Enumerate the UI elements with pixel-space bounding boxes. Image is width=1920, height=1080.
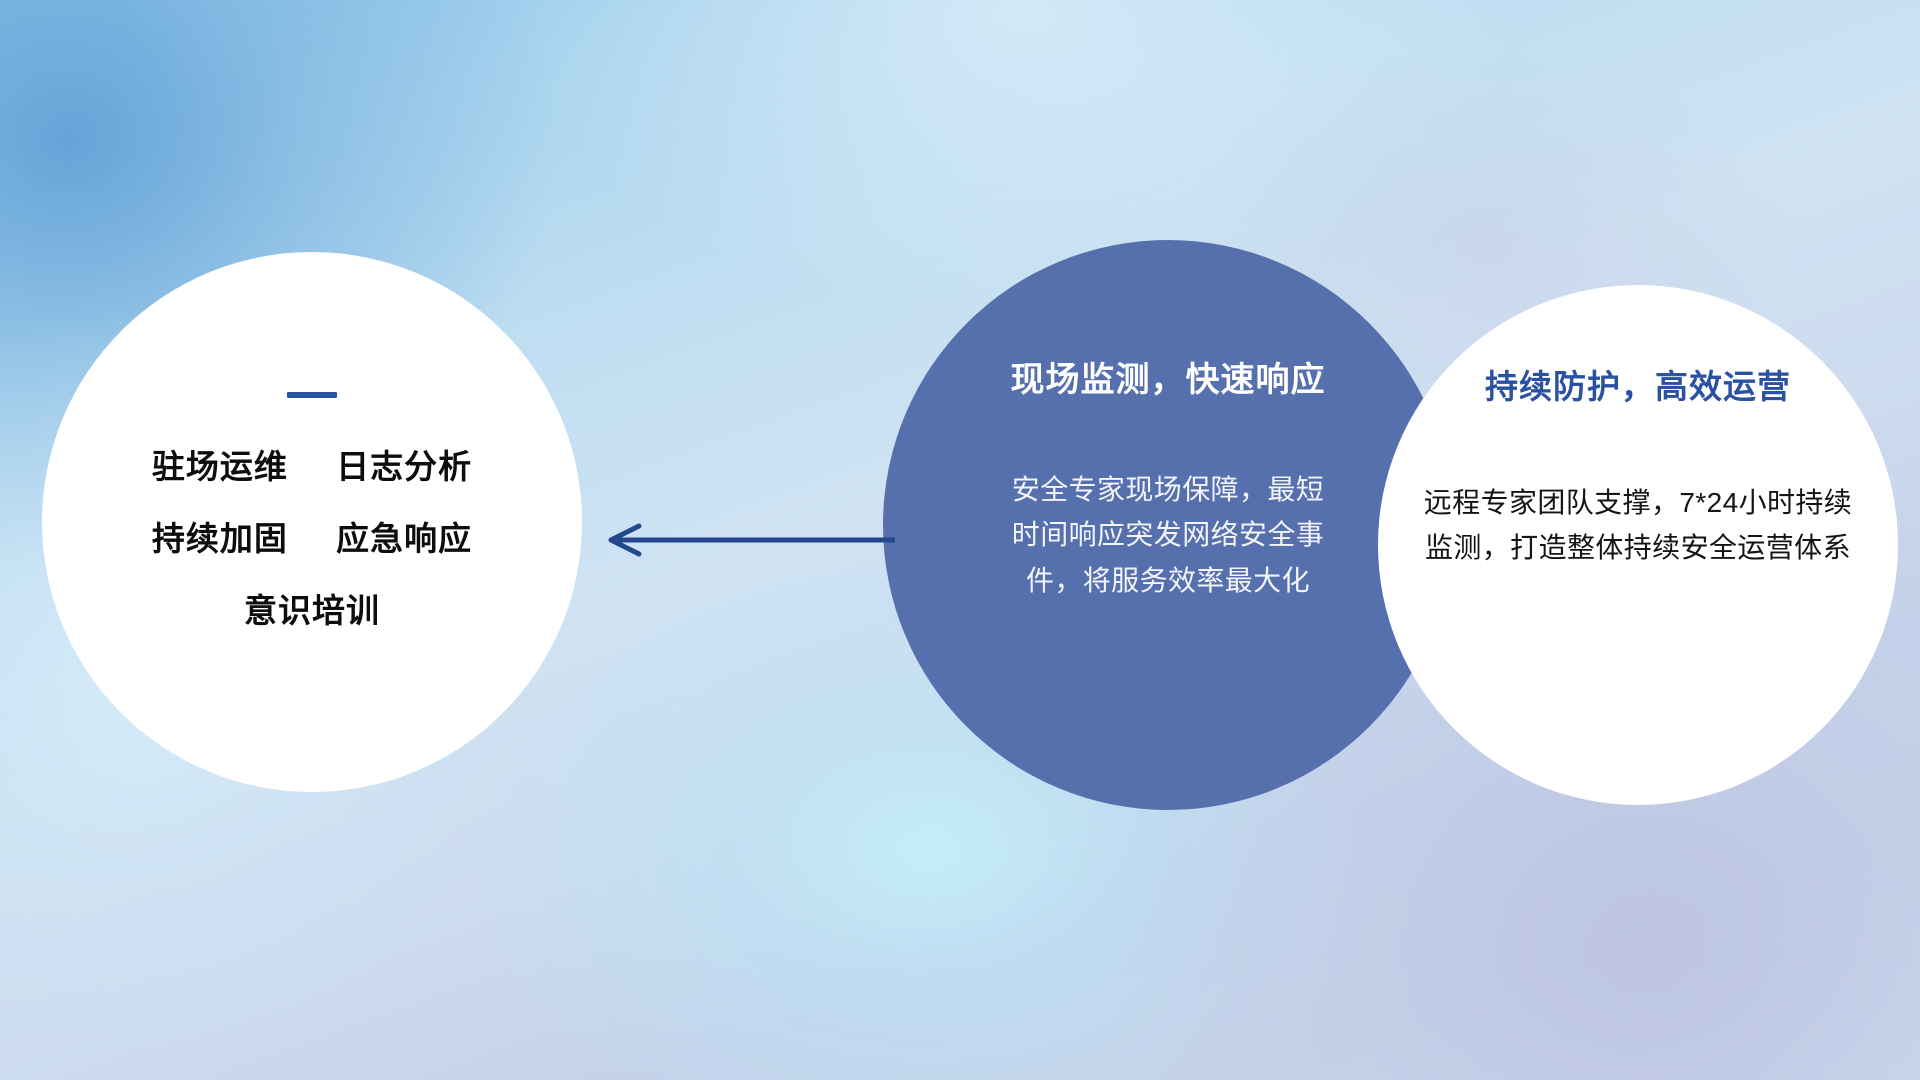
right-circle-body: 远程专家团队支撑，7*24小时持续监测，打造整体持续安全运营体系 xyxy=(1423,480,1853,571)
keyword-row-1: 驻场运维 日志分析 xyxy=(42,450,582,483)
keyword-item: 意识培训 xyxy=(244,592,380,629)
keyword-item: 应急响应 xyxy=(336,520,472,557)
middle-circle-content: 现场监测，快速响应 安全专家现场保障，最短时间响应突发网络安全事件，将服务效率最… xyxy=(883,352,1453,603)
middle-highlight-circle: 现场监测，快速响应 安全专家现场保障，最短时间响应突发网络安全事件，将服务效率最… xyxy=(883,240,1453,810)
slide-canvas: 驻场运维 日志分析 持续加固 应急响应 意识培训 现场监测，快速响应 安全专家现… xyxy=(0,0,1920,1080)
keyword-item: 驻场运维 xyxy=(152,448,288,485)
keyword-item: 持续加固 xyxy=(152,520,288,557)
keyword-row-2: 持续加固 应急响应 xyxy=(42,522,582,555)
flow-arrow-to-left xyxy=(595,512,895,568)
keyword-item: 日志分析 xyxy=(336,448,472,485)
left-circle-content: 驻场运维 日志分析 持续加固 应急响应 意识培训 xyxy=(42,392,582,627)
right-circle-title: 持续防护，高效运营 xyxy=(1378,360,1898,408)
divider-dash-icon xyxy=(287,392,337,398)
right-circle-content: 持续防护，高效运营 远程专家团队支撑，7*24小时持续监测，打造整体持续安全运营… xyxy=(1378,360,1898,571)
left-keyword-circle: 驻场运维 日志分析 持续加固 应急响应 意识培训 xyxy=(42,252,582,792)
right-operations-circle: 持续防护，高效运营 远程专家团队支撑，7*24小时持续监测，打造整体持续安全运营… xyxy=(1378,285,1898,805)
keyword-row-3: 意识培训 xyxy=(42,594,582,627)
middle-circle-body: 安全专家现场保障，最短时间响应突发网络安全事件，将服务效率最大化 xyxy=(1004,467,1332,603)
middle-circle-title: 现场监测，快速响应 xyxy=(883,352,1453,401)
